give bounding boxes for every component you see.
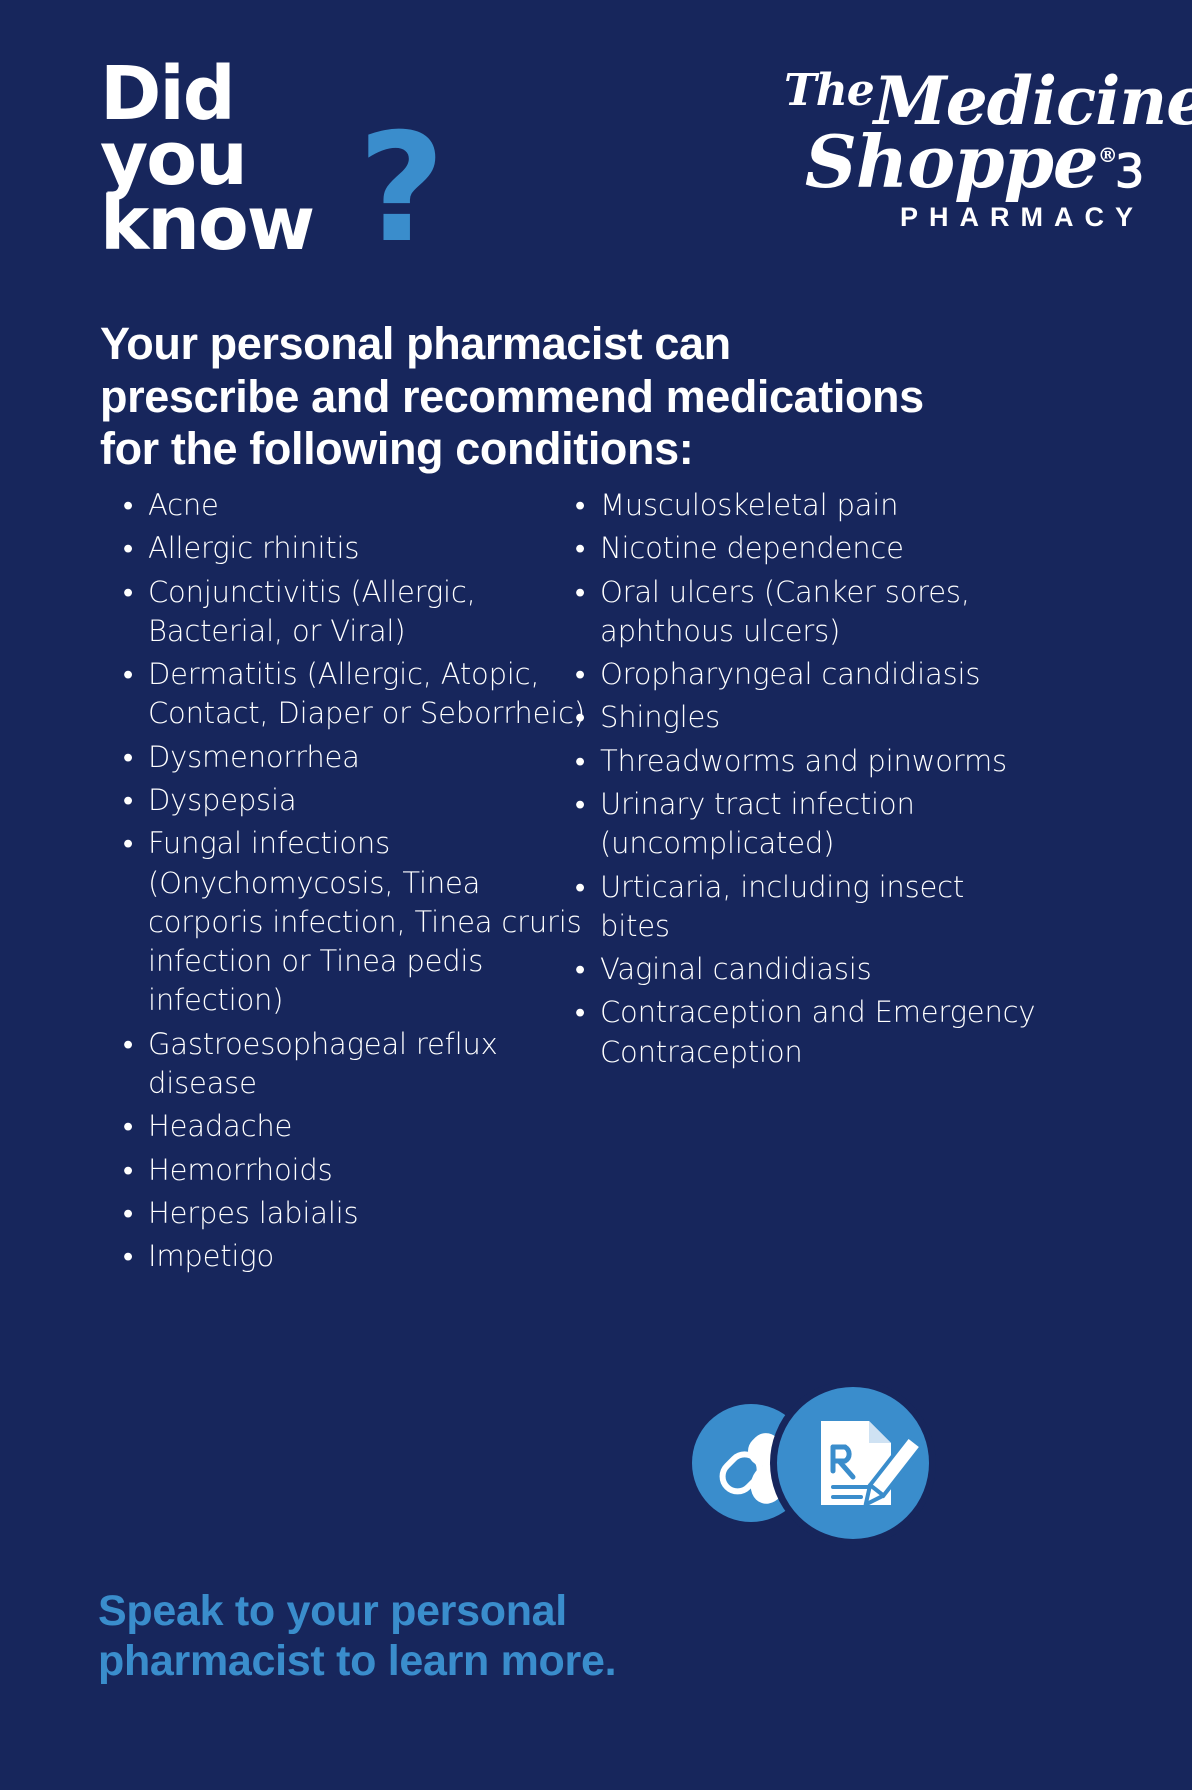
cta-line-1: Speak to your personal <box>98 1586 718 1636</box>
bullet-icon: • <box>575 573 585 612</box>
bullet-icon: • <box>123 573 133 612</box>
bullet-icon: • <box>123 1237 133 1276</box>
list-item-label: Nicotine dependence <box>600 531 904 565</box>
bullet-icon: • <box>575 698 585 737</box>
list-item: •Dermatitis (Allergic, Atopic, Contact, … <box>118 655 588 734</box>
cta-line-2: pharmacist to learn more. <box>98 1636 718 1686</box>
headline-line-know: know <box>100 192 520 257</box>
logo-line-shoppe: Shoppe®ℇ <box>784 127 1144 196</box>
list-item: •Threadworms and pinworms <box>570 742 1040 781</box>
footer-icon-badges <box>692 1380 932 1560</box>
page-title: Your personal pharmacist can prescribe a… <box>100 318 1100 476</box>
prescription-document-icon <box>770 1380 936 1546</box>
conditions-column-right: •Musculoskeletal pain•Nicotine dependenc… <box>570 486 1040 1280</box>
list-item: •Urticaria, including insect bites <box>570 868 1040 947</box>
page-title-line-3: for the following conditions: <box>100 423 1100 476</box>
list-item: •Dysmenorrhea <box>118 738 588 777</box>
list-item-label: Contraception and Emergency Contraceptio… <box>600 995 1035 1068</box>
list-item: •Acne <box>118 486 588 525</box>
list-item-label: Hemorrhoids <box>148 1153 332 1187</box>
list-item-label: Oropharyngeal candidiasis <box>600 657 980 691</box>
list-item-label: Gastroesophageal reflux disease <box>148 1027 498 1100</box>
bullet-icon: • <box>123 1151 133 1190</box>
bullet-icon: • <box>575 950 585 989</box>
bullet-icon: • <box>123 738 133 777</box>
list-item-label: Dysmenorrhea <box>148 740 360 774</box>
bullet-icon: • <box>123 1194 133 1233</box>
logo-tagline-pharmacy: PHARMACY <box>784 202 1144 233</box>
question-mark-icon: ? <box>358 114 441 264</box>
list-item-label: Vaginal candidiasis <box>600 952 872 986</box>
list-item: •Allergic rhinitis <box>118 529 588 568</box>
list-item: •Fungal infections (Onychomycosis, Tinea… <box>118 824 588 1020</box>
list-item-label: Herpes labialis <box>148 1196 358 1230</box>
bullet-icon: • <box>123 1107 133 1146</box>
conditions-column-left: •Acne•Allergic rhinitis•Conjunctivitis (… <box>118 486 588 1280</box>
list-item-label: Conjunctivitis (Allergic, Bacterial, or … <box>148 575 476 648</box>
cta-text: Speak to your personal pharmacist to lea… <box>98 1586 718 1687</box>
page-title-line-2: prescribe and recommend medications <box>100 371 1100 424</box>
list-item-label: Fungal infections (Onychomycosis, Tinea … <box>148 826 582 1017</box>
list-item: •Shingles <box>570 698 1040 737</box>
bullet-icon: • <box>123 655 133 694</box>
list-item: •Gastroesophageal reflux disease <box>118 1025 588 1104</box>
logo-word-shoppe: Shoppe <box>805 119 1098 204</box>
list-item: •Oropharyngeal candidiasis <box>570 655 1040 694</box>
conditions-lists: •Acne•Allergic rhinitis•Conjunctivitis (… <box>0 486 1192 1280</box>
list-item: •Conjunctivitis (Allergic, Bacterial, or… <box>118 573 588 652</box>
poster-header: Did you know ? TheMedicine Shoppe®ℇ PHAR… <box>0 0 1192 300</box>
list-item-label: Urticaria, including insect bites <box>600 870 964 943</box>
list-item: •Hemorrhoids <box>118 1151 588 1190</box>
list-item-label: Acne <box>148 488 219 522</box>
list-item-label: Shingles <box>600 700 720 734</box>
bullet-icon: • <box>575 486 585 525</box>
list-item-label: Oral ulcers (Canker sores, aphthous ulce… <box>600 575 970 648</box>
list-item: •Impetigo <box>118 1237 588 1276</box>
list-item-label: Impetigo <box>148 1239 274 1273</box>
mortar-pestle-icon: ℇ <box>1117 149 1144 193</box>
bullet-icon: • <box>575 655 585 694</box>
bullet-icon: • <box>575 529 585 568</box>
list-item: •Dyspepsia <box>118 781 588 820</box>
list-item-label: Headache <box>148 1109 292 1143</box>
list-item: •Musculoskeletal pain <box>570 486 1040 525</box>
list-item-label: Threadworms and pinworms <box>600 744 1007 778</box>
list-item: •Herpes labialis <box>118 1194 588 1233</box>
list-item: •Contraception and Emergency Contracepti… <box>570 993 1040 1072</box>
page-title-line-1: Your personal pharmacist can <box>100 318 1100 371</box>
list-item-label: Musculoskeletal pain <box>600 488 898 522</box>
bullet-icon: • <box>575 742 585 781</box>
bullet-icon: • <box>123 486 133 525</box>
list-item: •Nicotine dependence <box>570 529 1040 568</box>
did-you-know-headline: Did you know ? <box>100 62 520 257</box>
headline-line-did: Did <box>100 62 520 127</box>
bullet-icon: • <box>575 993 585 1032</box>
list-item: •Vaginal candidiasis <box>570 950 1040 989</box>
bullet-icon: • <box>575 868 585 907</box>
registered-trademark-icon: ® <box>1098 143 1117 167</box>
bullet-icon: • <box>123 824 133 863</box>
bullet-icon: • <box>575 785 585 824</box>
medicine-shoppe-logo: TheMedicine Shoppe®ℇ PHARMACY <box>784 70 1144 233</box>
list-item: •Headache <box>118 1107 588 1146</box>
list-item-label: Urinary tract infection (uncomplicated) <box>600 787 915 860</box>
bullet-icon: • <box>123 529 133 568</box>
list-item: •Oral ulcers (Canker sores, aphthous ulc… <box>570 573 1040 652</box>
bullet-icon: • <box>123 781 133 820</box>
logo-word-the: The <box>784 65 874 116</box>
bullet-icon: • <box>123 1025 133 1064</box>
list-item: •Urinary tract infection (uncomplicated) <box>570 785 1040 864</box>
list-item-label: Dyspepsia <box>148 783 296 817</box>
list-item-label: Allergic rhinitis <box>148 531 359 565</box>
list-item-label: Dermatitis (Allergic, Atopic, Contact, D… <box>148 657 585 730</box>
